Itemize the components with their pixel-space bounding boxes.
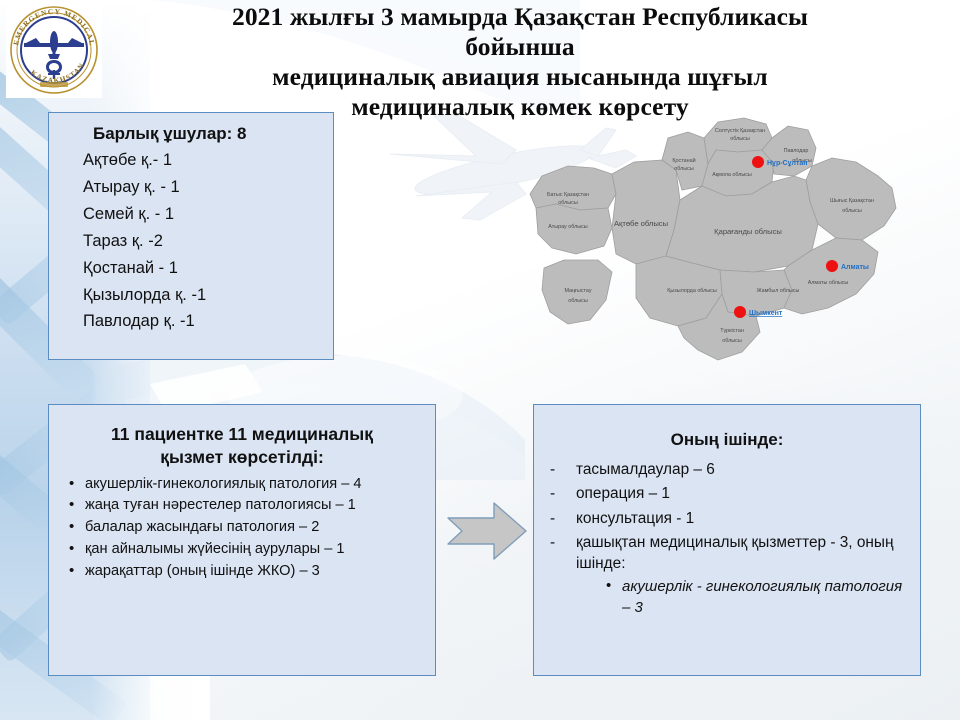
map-label-turkistan: Түркістан bbox=[720, 328, 744, 334]
map-label-akmola: Ақмола облысы bbox=[712, 172, 752, 178]
flights-card-title: Барлық ұшулар: 8 bbox=[49, 113, 333, 147]
map-city-label-shymkent: Шымкент bbox=[749, 310, 783, 317]
list-item-text: қашықтан медициналық қызметтер - 3, оның… bbox=[576, 534, 893, 572]
map-marker-almaty[interactable] bbox=[826, 260, 838, 272]
flights-summary-card: Барлық ұшулар: 8 Ақтөбе қ.- 1 Атырау қ. … bbox=[48, 112, 334, 360]
map-label-kyzylorda: Қызылорда облысы bbox=[667, 288, 717, 294]
map-label-north-kazakhstan: Солтүстік Қазақстан bbox=[715, 128, 765, 134]
list-item: тасымалдаулар – 6 bbox=[542, 459, 908, 480]
patients-list: акушерлік-гинекологиялық патология – 4 ж… bbox=[49, 473, 435, 581]
title-line-2: медициналық авиация нысанында шұғыл bbox=[200, 62, 840, 92]
list-item: акушерлік - гинекологиялық патология – 3 bbox=[606, 577, 908, 618]
map-label-mangystau-2: облысы bbox=[568, 298, 588, 304]
emergency-medical-care-logo: EMERGENCY MEDICAL CARE OF KAZAKHSTAN bbox=[6, 2, 102, 98]
list-item: қашықтан медициналық қызметтер - 3, оның… bbox=[542, 532, 908, 618]
list-item: жарақаттар (оның ішінде ЖКО) – 3 bbox=[63, 562, 427, 581]
map-city-label-almaty: Алматы bbox=[841, 264, 869, 271]
map-label-pavlodar: Павлодар bbox=[784, 148, 809, 154]
breakdown-list: тасымалдаулар – 6 операция – 1 консульта… bbox=[534, 457, 920, 618]
map-marker-shymkent[interactable] bbox=[734, 306, 746, 318]
list-item: Ақтөбе қ.- 1 bbox=[83, 147, 333, 174]
patients-title-line-2: қызмет көрсетілді: bbox=[65, 446, 419, 469]
list-item: балалар жасындағы патология – 2 bbox=[63, 518, 427, 537]
map-label-atyrau: Атырау облысы bbox=[548, 224, 588, 230]
list-item: Тараз қ. -2 bbox=[83, 228, 333, 255]
list-item: жаңа туған нәрестелер патологиясы – 1 bbox=[63, 496, 427, 515]
list-item: акушерлік-гинекологиялық патология – 4 bbox=[63, 475, 427, 494]
map-label-almaty-region: Алматы облысы bbox=[808, 280, 849, 286]
map-label-east-kazakhstan-2: облысы bbox=[842, 208, 862, 214]
map-label-west-kazakhstan-2: облысы bbox=[558, 200, 578, 206]
list-item: Павлодар қ. -1 bbox=[83, 308, 333, 335]
presentation-slide: EMERGENCY MEDICAL CARE OF KAZAKHSTAN 202… bbox=[0, 0, 960, 720]
map-label-mangystau: Маңғыстау bbox=[564, 288, 591, 294]
map-label-kostanay: Қостанай bbox=[672, 157, 695, 164]
list-item: қан айналымы жүйесінің аурулары – 1 bbox=[63, 540, 427, 559]
map-label-zhambyl: Жамбыл облысы bbox=[757, 288, 800, 294]
right-arrow-icon bbox=[446, 500, 528, 562]
map-label-karaganda: Қарағанды облысы bbox=[714, 227, 782, 236]
patients-title-line-1: 11 пациентке 11 медициналық bbox=[65, 423, 419, 446]
breakdown-card-title: Оның ішінде: bbox=[534, 405, 920, 457]
patients-card-title: 11 пациентке 11 медициналық қызмет көрсе… bbox=[49, 405, 435, 473]
list-item: Атырау қ. - 1 bbox=[83, 174, 333, 201]
patients-services-card: 11 пациентке 11 медициналық қызмет көрсе… bbox=[48, 404, 436, 676]
list-item: операция – 1 bbox=[542, 483, 908, 504]
map-label-east-kazakhstan: Шығыс Қазақстан bbox=[830, 198, 874, 204]
map-label-kostanay-2: облысы bbox=[674, 166, 694, 172]
list-item: Қостанай - 1 bbox=[83, 255, 333, 282]
list-item: Семей қ. - 1 bbox=[83, 201, 333, 228]
breakdown-sublist: акушерлік - гинекологиялық патология – 3 bbox=[576, 577, 908, 618]
map-label-north-kazakhstan-2: облысы bbox=[730, 136, 750, 142]
map-label-west-kazakhstan: Батыс Қазақстан bbox=[547, 192, 589, 198]
flights-list: Ақтөбе қ.- 1 Атырау қ. - 1 Семей қ. - 1 … bbox=[49, 147, 333, 335]
map-marker-nursultan[interactable] bbox=[752, 156, 764, 168]
breakdown-card: Оның ішінде: тасымалдаулар – 6 операция … bbox=[533, 404, 921, 676]
list-item: Қызылорда қ. -1 bbox=[83, 282, 333, 309]
map-label-aktobe: Ақтөбе облысы bbox=[614, 219, 668, 228]
kazakhstan-map: Солтүстік Қазақстан облысы Қостанай облы… bbox=[516, 104, 946, 376]
title-line-1: 2021 жылғы 3 мамырда Қазақстан Республик… bbox=[200, 2, 840, 62]
map-city-label-nursultan: Нұр-Сұлтан bbox=[767, 160, 808, 167]
list-item: консультация - 1 bbox=[542, 508, 908, 529]
map-label-turkistan-2: облысы bbox=[722, 338, 742, 344]
